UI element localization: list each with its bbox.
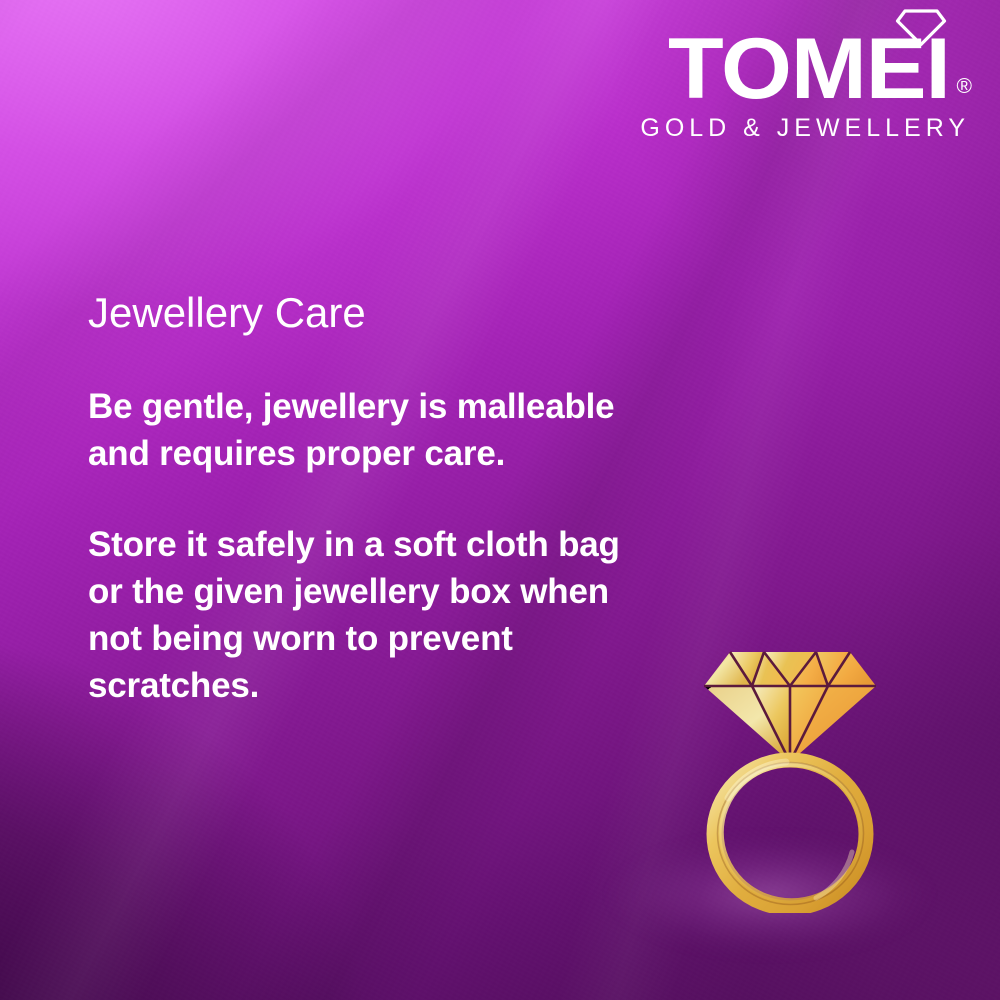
brand-logo: TOMEI ® GOLD & JEWELLERY (636, 6, 976, 143)
jewellery-care-poster: TOMEI ® GOLD & JEWELLERY Jewellery Care … (0, 0, 1000, 1000)
gem-crown (704, 652, 876, 686)
copy-block: Jewellery Care Be gentle, jewellery is m… (88, 290, 658, 710)
registered-trademark-symbol: ® (950, 76, 972, 111)
brand-tagline: GOLD & JEWELLERY (636, 114, 976, 143)
brand-wordmark: TOMEI (668, 6, 950, 111)
body-paragraph-1: Be gentle, jewellery is malleable and re… (88, 384, 633, 478)
body-paragraph-2: Store it safely in a soft cloth bag or t… (88, 522, 633, 710)
page-title: Jewellery Care (88, 290, 658, 336)
diamond-ring-illustration (690, 638, 890, 913)
ring-band (714, 760, 866, 908)
brand-wordmark-row: TOMEI ® (636, 6, 976, 111)
